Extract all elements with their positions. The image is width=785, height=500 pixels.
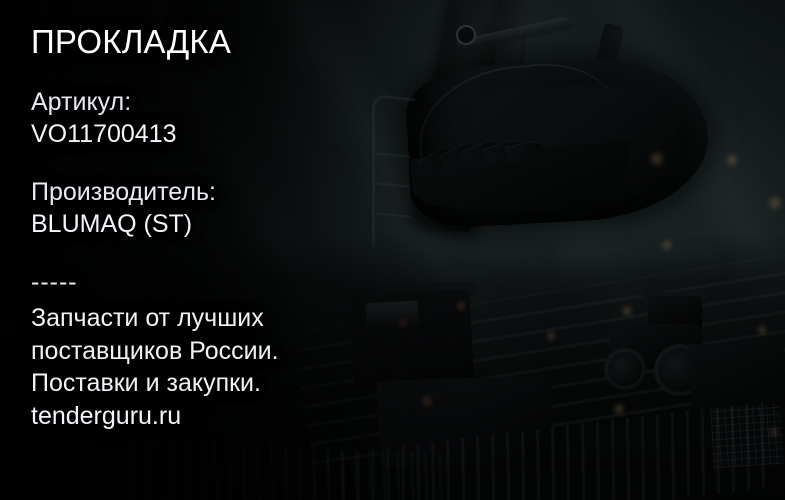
promo-line-2: поставщиков России. bbox=[31, 335, 279, 368]
product-card: ПРОКЛАДКА Артикул: VO11700413 Производит… bbox=[0, 0, 785, 500]
article-label: Артикул: bbox=[31, 86, 177, 118]
product-title: ПРОКЛАДКА bbox=[31, 24, 231, 60]
promo-block: Запчасти от лучших поставщиков России. П… bbox=[31, 302, 279, 432]
card-content: ПРОКЛАДКА Артикул: VO11700413 Производит… bbox=[31, 0, 461, 500]
field-article: Артикул: VO11700413 bbox=[31, 86, 177, 150]
manufacturer-label: Производитель: bbox=[31, 176, 216, 208]
promo-site-url: tenderguru.ru bbox=[31, 400, 279, 433]
promo-line-3: Поставки и закупки. bbox=[31, 367, 279, 400]
divider: ----- bbox=[31, 268, 78, 297]
field-manufacturer: Производитель: BLUMAQ (ST) bbox=[31, 176, 216, 240]
promo-line-1: Запчасти от лучших bbox=[31, 302, 279, 335]
manufacturer-value: BLUMAQ (ST) bbox=[31, 208, 216, 240]
article-value: VO11700413 bbox=[31, 118, 177, 150]
